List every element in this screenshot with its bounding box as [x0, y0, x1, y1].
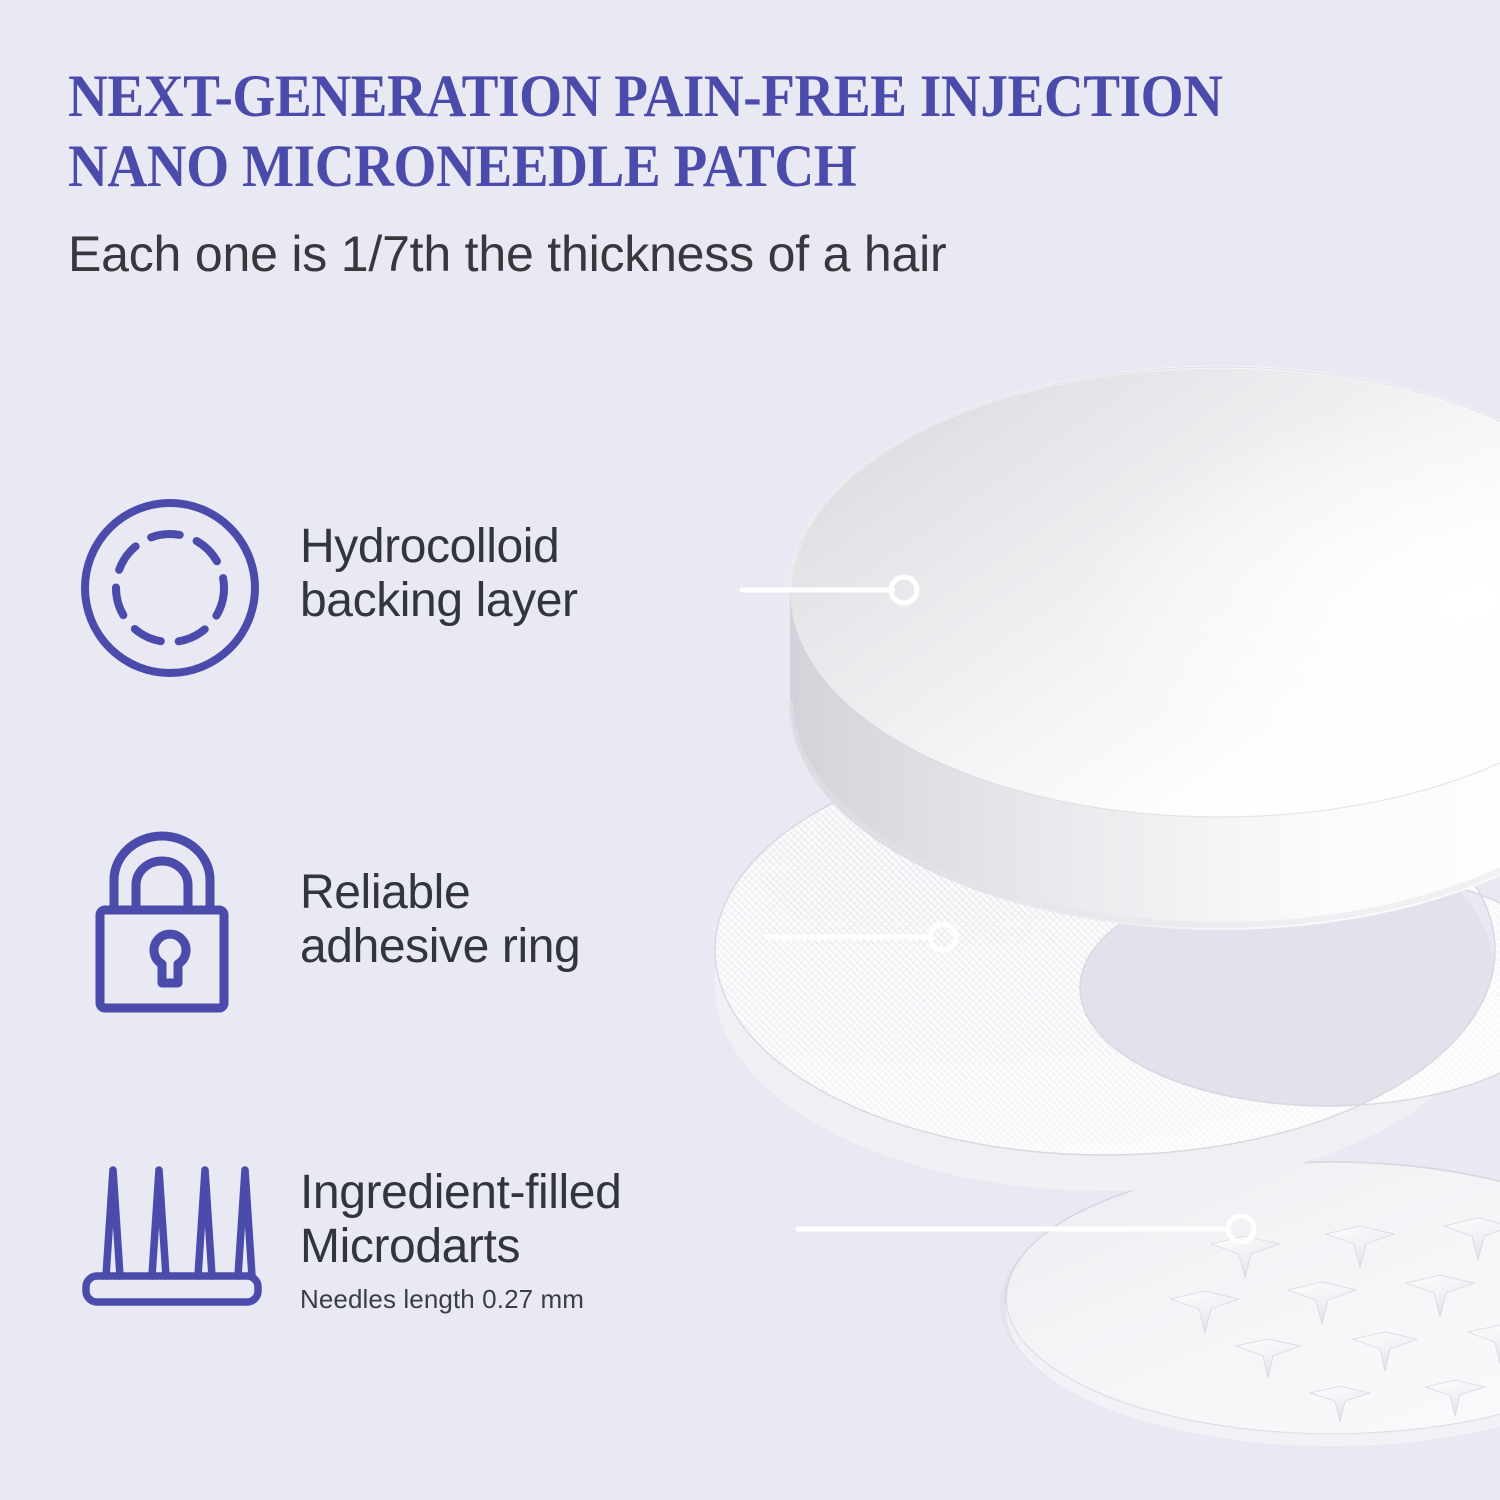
page-title: NEXT-GENERATION PAIN-FREE INJECTION NANO…	[68, 62, 1356, 201]
feature-adhesive-ring: Reliable adhesive ring	[0, 836, 780, 1046]
feature-hydrocolloid: Hydrocolloid backing layer	[0, 496, 780, 706]
feature-title: Ingredient-filled Microdarts	[300, 1166, 800, 1274]
feature-microdarts: Ingredient-filled Microdarts Needles len…	[0, 1152, 780, 1362]
microneedles-icon	[78, 1158, 262, 1308]
header: NEXT-GENERATION PAIN-FREE INJECTION NANO…	[68, 62, 1468, 282]
callout-line-microdarts	[798, 1216, 1254, 1242]
feature-text: Reliable adhesive ring	[300, 866, 770, 974]
feature-text: Hydrocolloid backing layer	[300, 520, 770, 628]
feature-title: Reliable adhesive ring	[300, 866, 770, 974]
feature-title: Hydrocolloid backing layer	[300, 520, 770, 628]
callout-line-adhesive-ring	[766, 924, 956, 950]
feature-text: Ingredient-filled Microdarts Needles len…	[300, 1166, 800, 1315]
padlock-icon	[78, 836, 262, 1020]
page-subtitle: Each one is 1/7th the thickness of a hai…	[68, 227, 1468, 282]
dashed-circle-icon	[78, 496, 262, 680]
feature-subtitle: Needles length 0.27 mm	[300, 1284, 800, 1315]
infographic-canvas: NEXT-GENERATION PAIN-FREE INJECTION NANO…	[0, 0, 1500, 1500]
